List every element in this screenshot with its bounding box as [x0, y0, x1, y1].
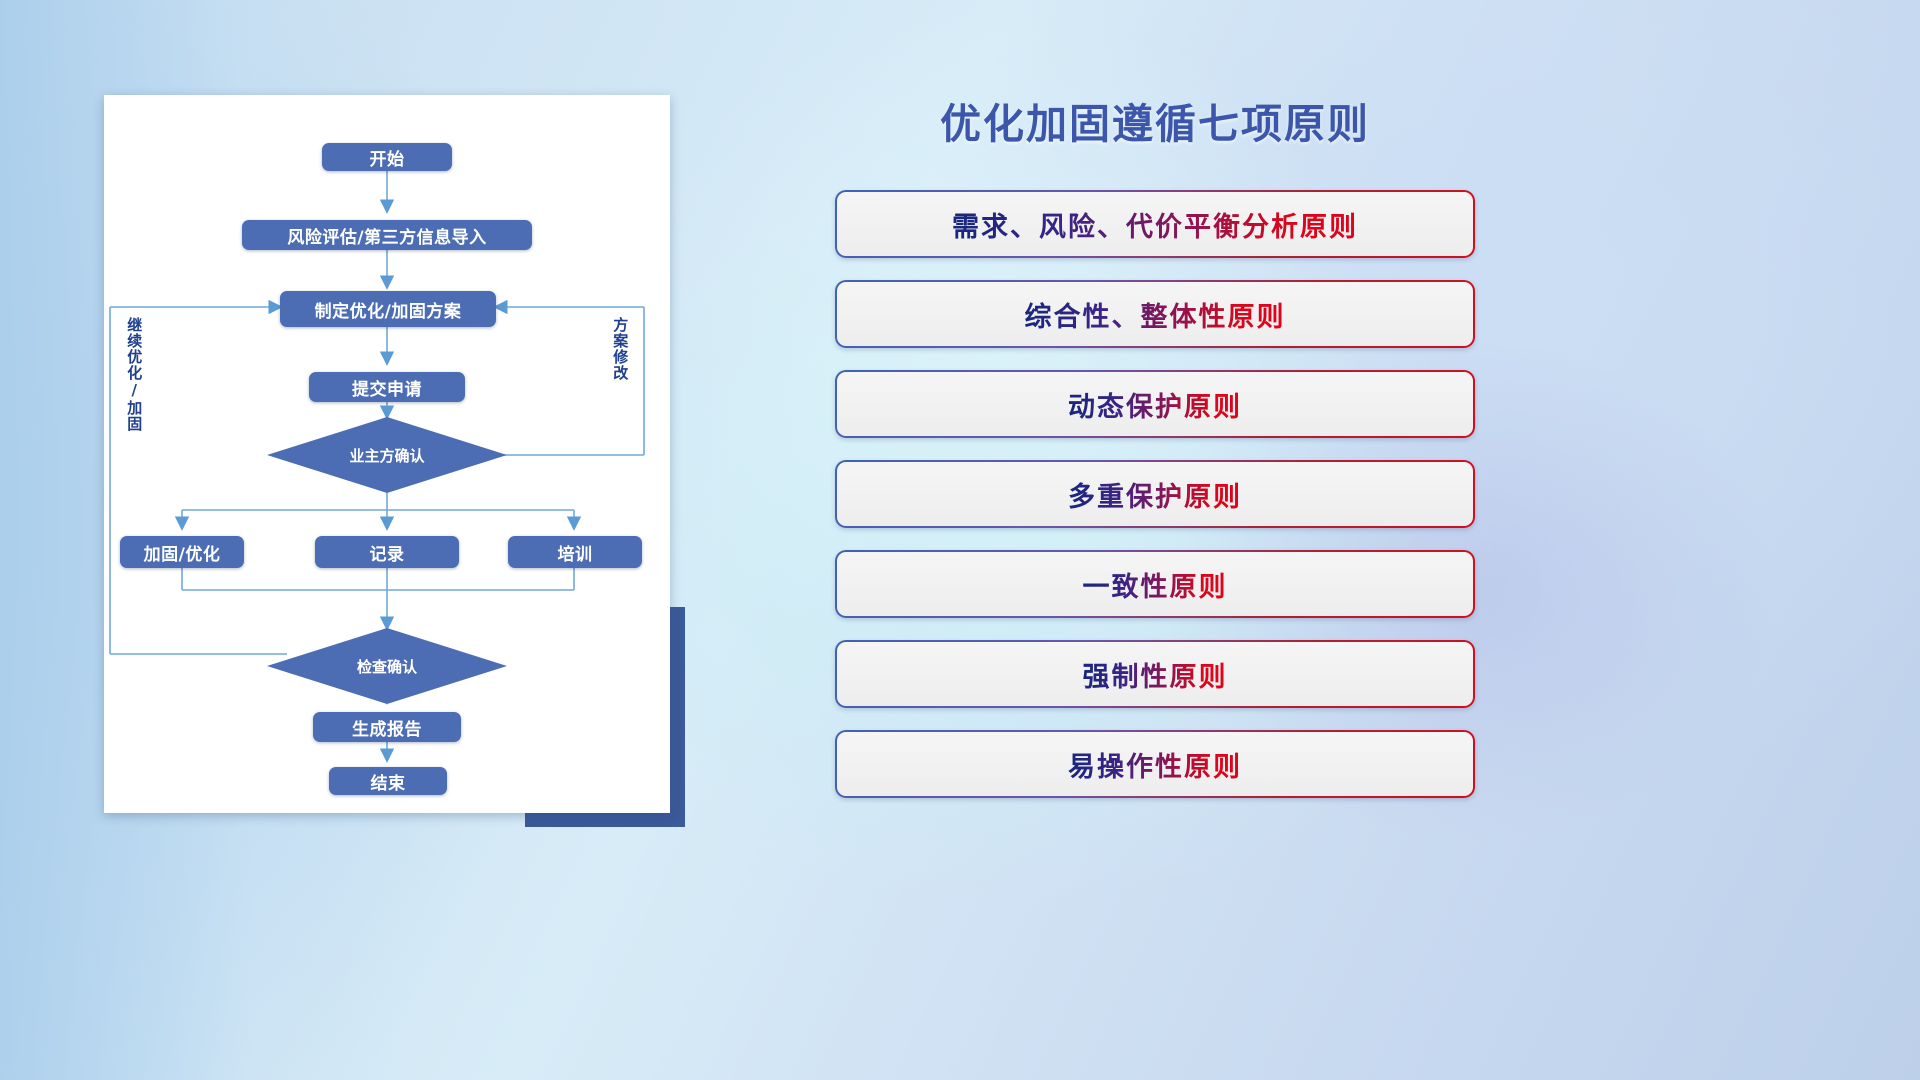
principle-card-inner: 综合性、整体性原则 [837, 282, 1473, 346]
flow-node-label: 培训 [558, 540, 593, 565]
flow-node-generate-report[interactable]: 生成报告 [313, 712, 461, 742]
principle-card-inner: 动态保护原则 [837, 372, 1473, 436]
flow-node-label: 检查确认 [357, 656, 417, 677]
principle-label: 需求、风险、代价平衡分析原则 [952, 205, 1358, 244]
flow-node-risk-assessment[interactable]: 风险评估/第三方信息导入 [242, 220, 532, 250]
flow-node-label: 加固/优化 [144, 540, 221, 565]
flow-node-label: 记录 [370, 540, 405, 565]
principle-card-inner: 易操作性原则 [837, 732, 1473, 796]
flow-node-start[interactable]: 开始 [322, 143, 452, 171]
flow-node-plan[interactable]: 制定优化/加固方案 [280, 291, 496, 327]
flow-edge-label-text: 方案修改 [611, 317, 629, 381]
flow-node-reinforce[interactable]: 加固/优化 [120, 536, 244, 568]
flow-node-label: 结束 [371, 769, 406, 794]
principle-label: 综合性、整体性原则 [1025, 295, 1286, 334]
flow-node-label: 制定优化/加固方案 [315, 297, 462, 322]
principle-card[interactable]: 需求、风险、代价平衡分析原则 [835, 190, 1475, 258]
principle-card-inner: 强制性原则 [837, 642, 1473, 706]
flow-edge-label-text: 继续优化/加固 [125, 317, 143, 432]
flow-node-training[interactable]: 培训 [508, 536, 642, 568]
principle-label: 强制性原则 [1083, 655, 1228, 694]
flow-node-label: 开始 [370, 145, 405, 170]
principle-label: 动态保护原则 [1068, 385, 1242, 424]
flow-node-check-confirm[interactable]: 检查确认 [267, 628, 507, 704]
flow-node-end[interactable]: 结束 [329, 767, 447, 795]
flow-edge-label-plan-revision: 方案修改 [612, 317, 627, 417]
principle-label: 易操作性原则 [1068, 745, 1242, 784]
flow-edge-label-continue-optimize: 继续优化/加固 [126, 317, 141, 447]
page-title: 优化加固遵循七项原则 [835, 90, 1475, 150]
principle-label: 多重保护原则 [1068, 475, 1242, 514]
flow-node-owner-confirm[interactable]: 业主方确认 [267, 417, 507, 493]
principle-label: 一致性原则 [1083, 565, 1228, 604]
principles-list: 需求、风险、代价平衡分析原则 综合性、整体性原则 动态保护原则 多重保护原则 一… [835, 190, 1475, 820]
flow-node-label: 提交申请 [352, 375, 422, 400]
principle-card-inner: 需求、风险、代价平衡分析原则 [837, 192, 1473, 256]
principle-card[interactable]: 动态保护原则 [835, 370, 1475, 438]
principle-card[interactable]: 多重保护原则 [835, 460, 1475, 528]
principle-card[interactable]: 易操作性原则 [835, 730, 1475, 798]
flow-node-submit-application[interactable]: 提交申请 [309, 372, 465, 402]
flowchart-panel: 开始 风险评估/第三方信息导入 制定优化/加固方案 提交申请 业主方确认 加固/… [104, 95, 670, 813]
principle-card[interactable]: 一致性原则 [835, 550, 1475, 618]
flow-node-record[interactable]: 记录 [315, 536, 459, 568]
principle-card[interactable]: 强制性原则 [835, 640, 1475, 708]
flow-node-label: 业主方确认 [349, 445, 424, 466]
principle-card-inner: 多重保护原则 [837, 462, 1473, 526]
flow-node-label: 生成报告 [352, 715, 422, 740]
flow-node-label: 风险评估/第三方信息导入 [287, 223, 486, 248]
principle-card[interactable]: 综合性、整体性原则 [835, 280, 1475, 348]
principle-card-inner: 一致性原则 [837, 552, 1473, 616]
